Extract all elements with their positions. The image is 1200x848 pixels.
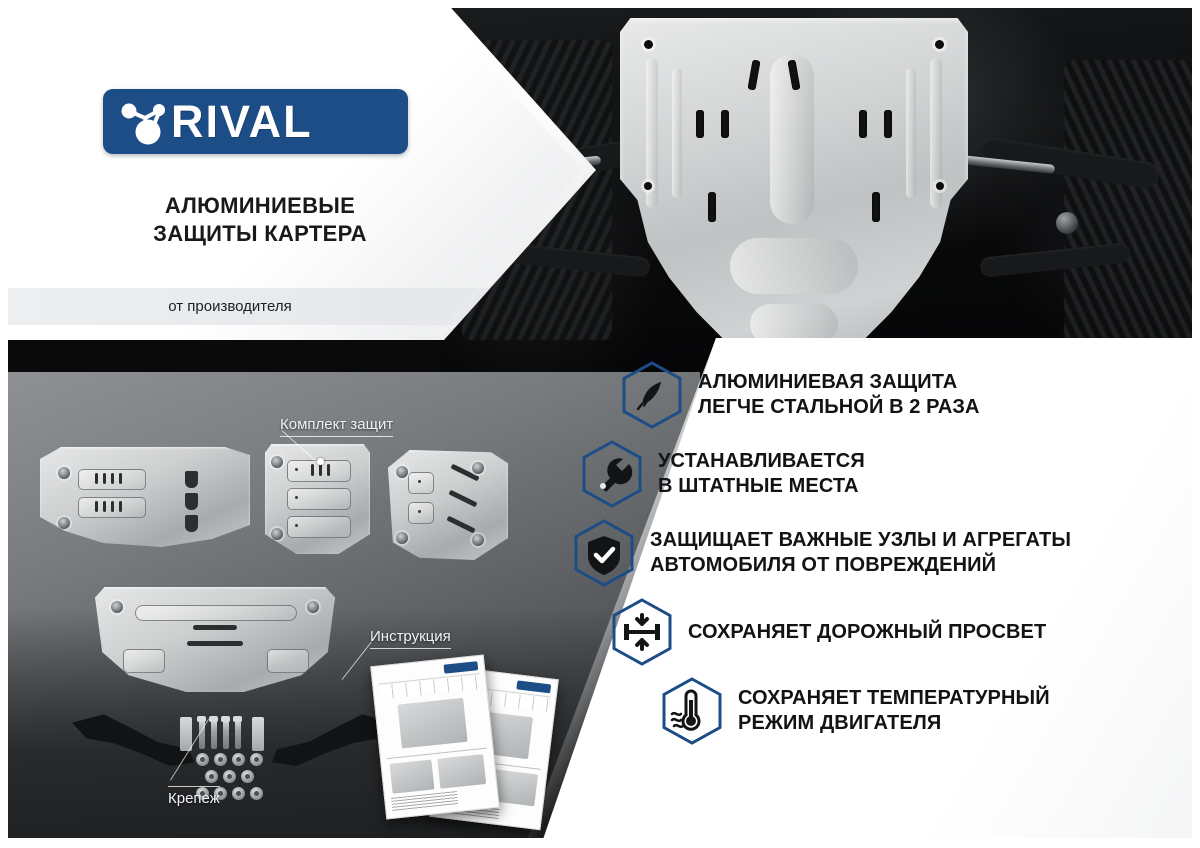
joint-right (1056, 212, 1078, 234)
feature-item-1-line2: ЛЕГЧЕ СТАЛЬНОЙ В 2 РАЗА (698, 395, 980, 420)
page-title-line2: ЗАЩИТЫ КАРТЕРА (0, 220, 520, 248)
skid-plate-1 (40, 447, 250, 547)
feature-item-3-line2: АВТОМОБИЛЯ ОТ ПОВРЕЖДЕНИЙ (650, 553, 1071, 578)
page-title: АЛЮМИНИЕВЫЕ ЗАЩИТЫ КАРТЕРА (0, 192, 520, 248)
white-frame-bottom (0, 838, 1200, 848)
feature-item-1: АЛЮМИНИЕВАЯ ЗАЩИТА ЛЕГЧЕ СТАЛЬНОЙ В 2 РА… (620, 360, 1200, 430)
feather-icon (620, 360, 684, 430)
tyre-right (1064, 60, 1194, 360)
callout-instruction: Инструкция (370, 628, 451, 649)
callout-hardware-label: Крепеж (168, 790, 220, 807)
rival-wordmark: RIVAL (171, 92, 313, 152)
feature-item-2-line1: УСТАНАВЛИВАЕТСЯ (658, 449, 865, 474)
banner-root: Преимущества (0, 0, 1200, 848)
feature-item-5-line1: СОХРАНЯЕТ ТЕМПЕРАТУРНЫЙ (738, 686, 1050, 711)
feature-item-2-line2: В ШТАТНЫЕ МЕСТА (658, 474, 865, 499)
feature-item-1-text: АЛЮМИНИЕВАЯ ЗАЩИТА ЛЕГЧЕ СТАЛЬНОЙ В 2 РА… (698, 370, 980, 420)
feature-item-4-line1: СОХРАНЯЕТ ДОРОЖНЫЙ ПРОСВЕТ (688, 620, 1046, 645)
feature-item-3-text: ЗАЩИЩАЕТ ВАЖНЫЕ УЗЛЫ И АГРЕГАТЫ АВТОМОБИ… (650, 528, 1071, 578)
feature-item-3-line1: ЗАЩИЩАЕТ ВАЖНЫЕ УЗЛЫ И АГРЕГАТЫ (650, 528, 1071, 553)
thermometer-icon (660, 676, 724, 746)
feature-item-3: ЗАЩИЩАЕТ ВАЖНЫЕ УЗЛЫ И АГРЕГАТЫ АВТОМОБИ… (572, 518, 1200, 588)
feature-item-5: СОХРАНЯЕТ ТЕМПЕРАТУРНЫЙ РЕЖИМ ДВИГАТЕЛЯ (660, 676, 1200, 746)
page-title-line1: АЛЮМИНИЕВЫЕ (0, 192, 520, 220)
feature-item-4-text: СОХРАНЯЕТ ДОРОЖНЫЙ ПРОСВЕТ (688, 620, 1046, 645)
feature-item-5-text: СОХРАНЯЕТ ТЕМПЕРАТУРНЫЙ РЕЖИМ ДВИГАТЕЛЯ (738, 686, 1050, 736)
callout-instruction-label: Инструкция (370, 628, 451, 645)
callout-hardware: Крепеж (168, 786, 220, 807)
feature-item-5-line2: РЕЖИМ ДВИГАТЕЛЯ (738, 711, 1050, 736)
instruction-sheet-front (370, 654, 499, 819)
rival-logo[interactable]: RIVAL (103, 89, 408, 154)
skid-plate-3 (388, 450, 508, 560)
shield-check-icon (572, 518, 636, 588)
leader-dot-kit (317, 458, 324, 465)
feature-item-4: СОХРАНЯЕТ ДОРОЖНЫЙ ПРОСВЕТ (610, 597, 1200, 667)
callout-kit: Комплект защит (280, 416, 393, 437)
features-list: АЛЮМИНИЕВАЯ ЗАЩИТА ЛЕГЧЕ СТАЛЬНОЙ В 2 РА… (620, 360, 1200, 755)
callout-kit-label: Комплект защит (280, 416, 393, 433)
molecule-icon (119, 99, 167, 145)
ground-clearance-icon (610, 597, 674, 667)
feature-item-2-text: УСТАНАВЛИВАЕТСЯ В ШТАТНЫЕ МЕСТА (658, 449, 865, 499)
wrench-icon (580, 439, 644, 509)
feature-item-1-line1: АЛЮМИНИЕВАЯ ЗАЩИТА (698, 370, 980, 395)
page-subtitle: от производителя (0, 288, 460, 325)
feature-item-2: УСТАНАВЛИВАЕТСЯ В ШТАТНЫЕ МЕСТА (580, 439, 1200, 509)
